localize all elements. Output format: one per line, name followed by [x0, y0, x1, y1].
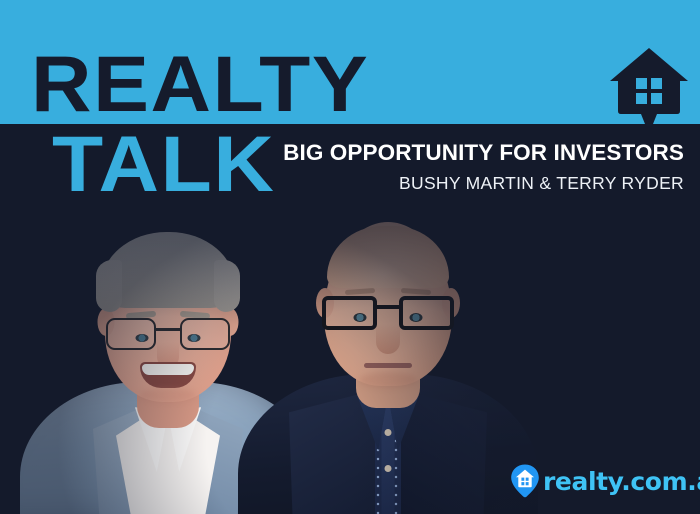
guest-photo-terry-ryder — [238, 194, 538, 514]
terry-nose — [376, 324, 400, 354]
episode-guests: BUSHY MARTIN & TERRY RYDER — [254, 173, 684, 193]
terry-bald-scalp — [327, 226, 449, 288]
terry-shirt-button-upper — [385, 429, 392, 436]
terry-lens-left — [322, 296, 377, 330]
terry-lens-right — [399, 296, 454, 330]
brand-title-realty: REALTY — [31, 44, 369, 123]
bushy-lens-left — [106, 318, 156, 350]
bushy-glasses-bridge — [155, 328, 181, 331]
realty-com-au-logo[interactable]: realty.com.au — [510, 464, 700, 498]
house-badge-icon — [608, 46, 690, 126]
realty-talk-episode-banner: REALTY TALK BIG OPPORTUNITY FOR INVESTOR… — [0, 0, 700, 514]
bushy-teeth — [142, 364, 194, 375]
terry-shirt-button-lower — [385, 465, 392, 472]
terry-glasses-bridge — [377, 305, 399, 309]
bushy-lens-right — [180, 318, 230, 350]
realty-logo-text: realty.com.au — [543, 469, 700, 494]
episode-headline-block: BIG OPPORTUNITY FOR INVESTORS BUSHY MART… — [254, 140, 684, 193]
episode-title: BIG OPPORTUNITY FOR INVESTORS — [254, 140, 684, 166]
bushy-chin-shadow — [140, 388, 196, 402]
brand-title-talk: TALK — [52, 124, 275, 203]
bushy-hair — [100, 232, 236, 308]
terry-mouth — [364, 363, 412, 368]
terry-chin-shadow — [359, 372, 417, 388]
realty-pin-house-icon — [510, 464, 540, 498]
